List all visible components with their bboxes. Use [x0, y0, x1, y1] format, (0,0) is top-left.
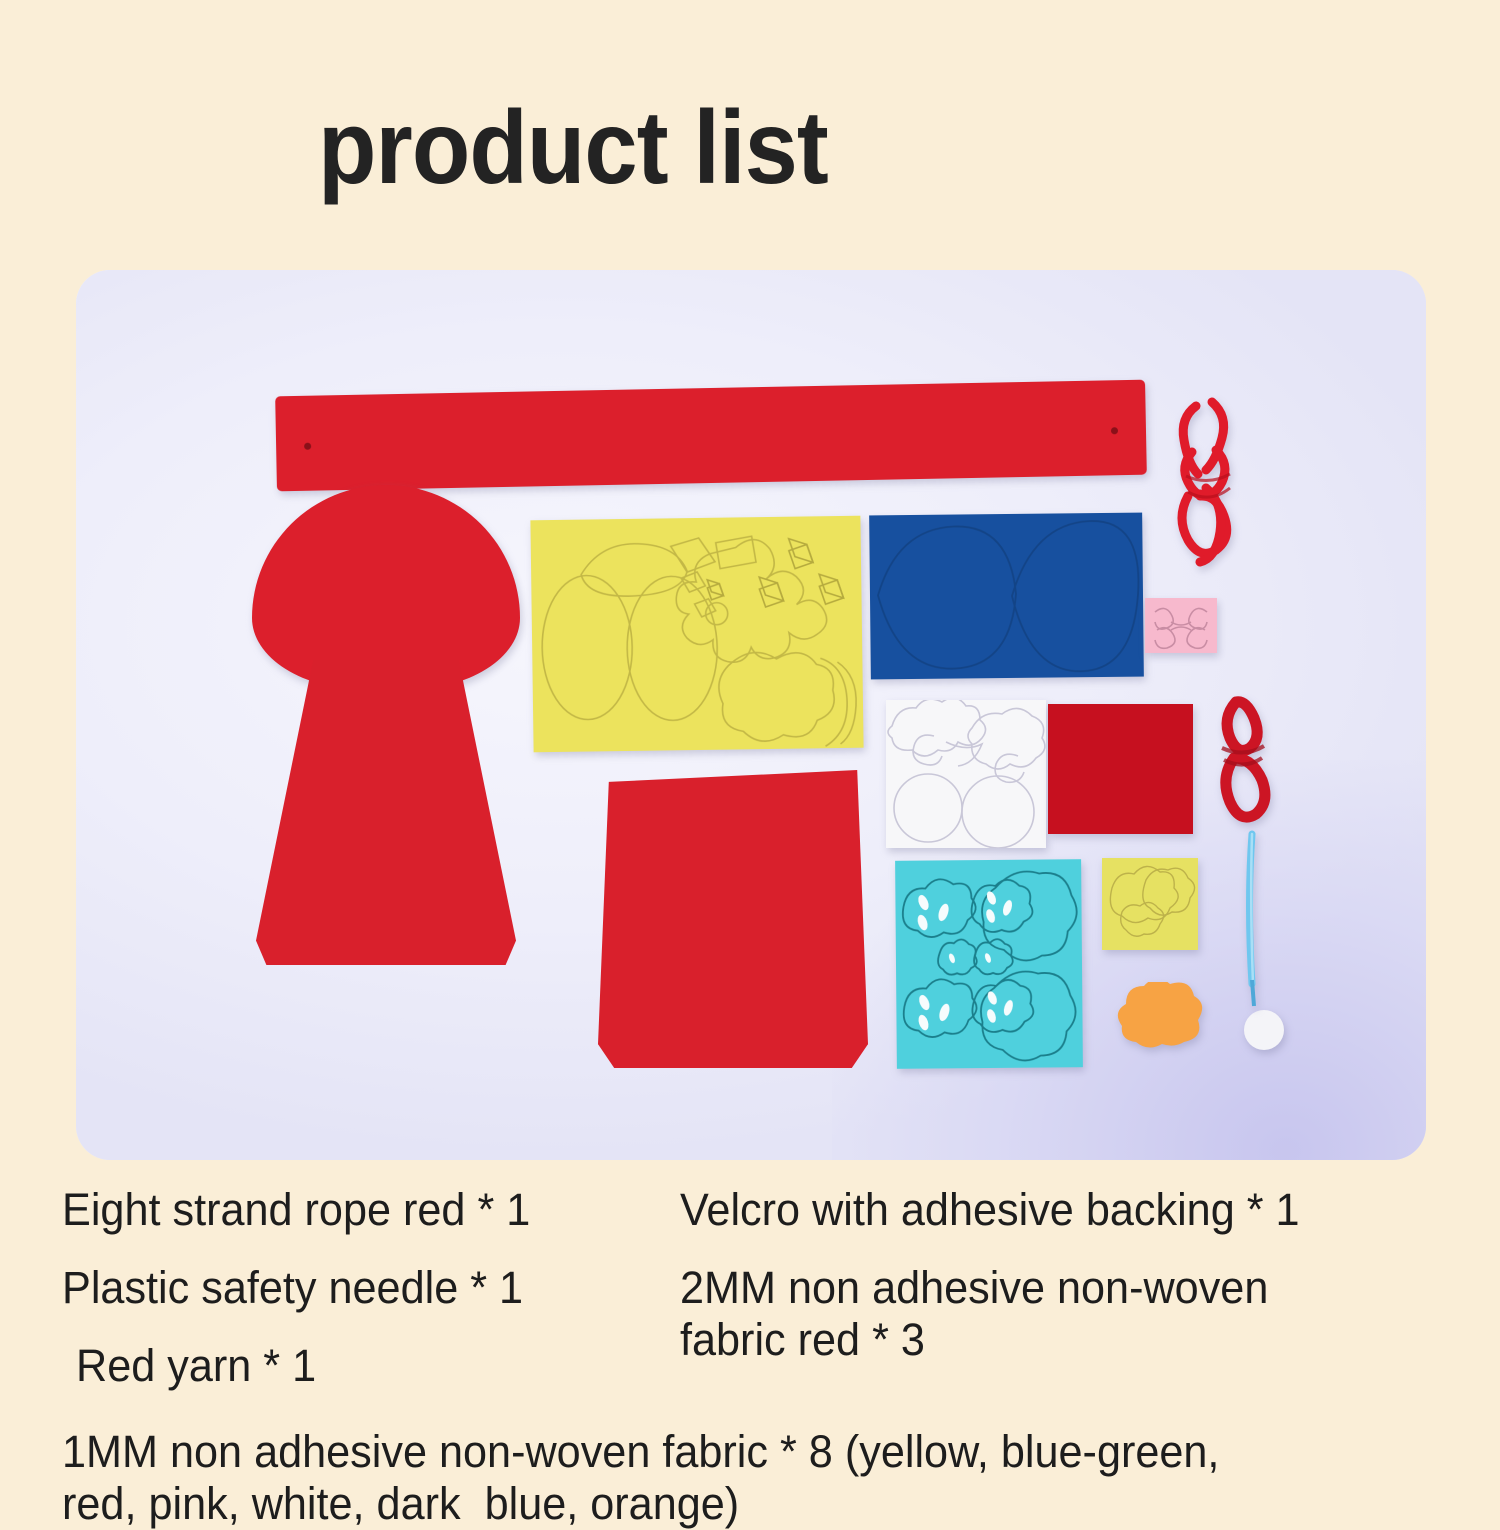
strap-hole-right: [1111, 427, 1118, 434]
cyan-sheet-pattern-icon: [895, 859, 1083, 1069]
blue-sheet-pattern-icon: [869, 513, 1144, 680]
spec-fabric-1mm: 1MM non adhesive non-woven fabric * 8 (y…: [62, 1426, 1416, 1530]
spec-velcro: Velcro with adhesive backing * 1: [680, 1184, 1300, 1236]
blue-green-felt-sheet: [895, 859, 1083, 1069]
red-trapezoid-piece: [598, 770, 868, 1068]
yellow-felt-square: [1102, 858, 1198, 950]
orange-cloud-icon: [1110, 982, 1208, 1050]
pink-piece-pattern-icon: [1145, 598, 1217, 653]
red-strap-piece: [275, 380, 1147, 492]
white-sheet-pattern-icon: [886, 700, 1046, 848]
red-rope-coil-icon: [1166, 392, 1246, 592]
spec-red-yarn: Red yarn * 1: [76, 1340, 316, 1392]
white-felt-sheet: [886, 700, 1046, 848]
needle-icon: [1238, 830, 1272, 1030]
yellow-square-pattern-icon: [1102, 858, 1198, 950]
page-title: product list: [318, 96, 828, 200]
plastic-safety-needle-piece: [1238, 830, 1272, 1030]
product-photo: [76, 270, 1426, 1160]
spec-plastic-needle: Plastic safety needle * 1: [62, 1262, 523, 1314]
red-yarn-coil-icon: [1212, 688, 1274, 843]
strap-hole-left: [304, 443, 311, 450]
orange-cloud-piece: [1110, 982, 1208, 1050]
spec-eight-strand-rope: Eight strand rope red * 1: [62, 1184, 530, 1236]
dark-blue-felt-sheet: [869, 513, 1144, 680]
yellow-felt-sheet: [530, 516, 863, 753]
red-yarn-piece: [1212, 688, 1274, 843]
red-felt-square: [1048, 704, 1193, 834]
yellow-sheet-pattern-icon: [530, 516, 863, 753]
pink-felt-piece: [1145, 598, 1217, 653]
spec-fabric-2mm: 2MM non adhesive non-woven fabric red * …: [680, 1262, 1390, 1366]
eight-strand-rope-piece: [1166, 392, 1246, 592]
